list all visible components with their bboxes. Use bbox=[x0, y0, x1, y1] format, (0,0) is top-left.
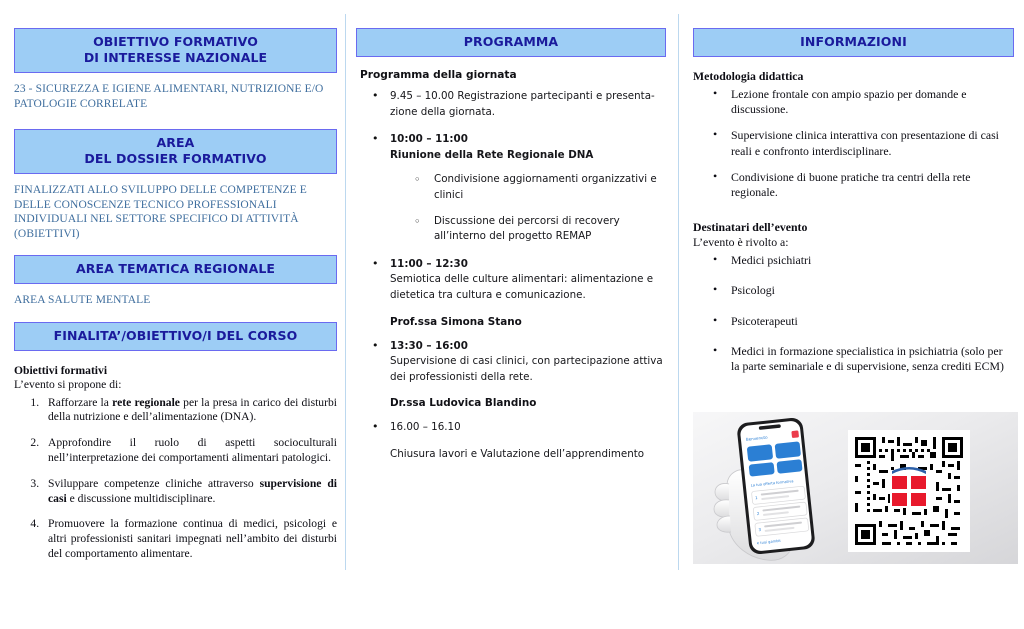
obiettivi-title: Obiettivi formativi bbox=[14, 364, 337, 379]
header-line: DI INTERESSE NAZIONALE bbox=[19, 50, 332, 66]
obiettivi-formativi-block: Obiettivi formativi L’evento si propone … bbox=[14, 364, 337, 562]
section-header-programma: PROGRAMMA bbox=[356, 28, 666, 57]
smartphone: Benvenuto La tua offerta formativa 1 2 bbox=[736, 417, 815, 555]
text-line: PATOLOGIE CORRELATE bbox=[14, 97, 337, 112]
list-item: 13:30 – 16:00 Supervisione di casi clini… bbox=[356, 339, 666, 386]
sub-list-item: Discussione dei percorsi di recovery all… bbox=[390, 214, 666, 245]
item-pre: Sviluppare competenze cliniche attravers… bbox=[48, 477, 260, 490]
item-line-2: zione della giornata. bbox=[390, 105, 666, 121]
obiettivi-lead: L’evento si propone di: bbox=[14, 378, 337, 393]
text-line: (OBIETTIVI) bbox=[14, 227, 337, 242]
header-line: AREA bbox=[19, 135, 332, 151]
list-item: 16.00 – 16.10 bbox=[356, 420, 666, 436]
obiettivo-formativo-value: 23 - SICUREZZA E IGIENE ALIMENTARI, NUTR… bbox=[14, 82, 337, 111]
list-item: Condivisione di buone pratiche tra centr… bbox=[693, 170, 1014, 200]
header-line: INFORMAZIONI bbox=[698, 34, 1009, 50]
list-item: Rafforzare la rete regionale per la pres… bbox=[42, 396, 337, 426]
section-header-finalita: FINALITA’/OBIETTIVO/I DEL CORSO bbox=[14, 322, 337, 351]
list-item: Promuovere la formazione continua di med… bbox=[42, 517, 337, 561]
text-line: 23 - SICUREZZA E IGIENE ALIMENTARI, NUTR… bbox=[14, 82, 337, 97]
section-header-area-dossier: AREA DEL DOSSIER FORMATIVO bbox=[14, 129, 337, 174]
qr-code bbox=[848, 430, 970, 552]
item-pre: Approfondire il ruolo di aspetti sociocu… bbox=[48, 436, 337, 464]
item-line-1: 9.45 – 10.00 Registrazione partecipanti … bbox=[390, 89, 666, 105]
list-item: Medici in formazione specialistica in ps… bbox=[693, 344, 1014, 374]
regione-logo bbox=[890, 467, 928, 508]
destinatari-list: Medici psichiatri Psicologi Psicoterapeu… bbox=[693, 253, 1014, 374]
section-header-informazioni: INFORMAZIONI bbox=[693, 28, 1014, 57]
item-line-2: Semiotica delle culture alimentari: alim… bbox=[390, 272, 666, 303]
item-line-1: 10:00 – 11:00 bbox=[390, 132, 666, 148]
item-line-2: Supervisione di casi clinici, con partec… bbox=[390, 354, 666, 385]
flyer-page: OBIETTIVO FORMATIVO DI INTERESSE NAZIONA… bbox=[0, 0, 1024, 629]
promo-illustration: Benvenuto La tua offerta formativa 1 2 bbox=[693, 412, 1018, 564]
item-post: e discussione multidisciplinare. bbox=[67, 492, 216, 505]
header-line: PROGRAMMA bbox=[361, 34, 661, 50]
promo-image-qr: Benvenuto La tua offerta formativa 1 2 bbox=[693, 412, 1018, 564]
list-item: 9.45 – 10.00 Registrazione partecipanti … bbox=[356, 89, 666, 120]
list-item: Approfondire il ruolo di aspetti sociocu… bbox=[42, 436, 337, 466]
destinatari-title: Destinatari dell’evento bbox=[693, 220, 1014, 235]
area-tematica-value: AREA SALUTE MENTALE bbox=[14, 293, 337, 308]
header-line: OBIETTIVO FORMATIVO bbox=[19, 34, 332, 50]
speaker-name: Dr.ssa Ludovica Blandino bbox=[390, 397, 666, 409]
list-item: Medici psichiatri bbox=[693, 253, 1014, 268]
list-item: Lezione frontale con ampio spazio per do… bbox=[693, 87, 1014, 117]
item-line-1: 11:00 – 12:30 bbox=[390, 257, 666, 273]
item-pre: Rafforzare la bbox=[48, 396, 112, 409]
item-line-1: 16.00 – 16.10 bbox=[390, 420, 666, 436]
section-header-area-tematica: AREA TEMATICA REGIONALE bbox=[14, 255, 337, 284]
text-line: FINALIZZATI ALLO SVILUPPO DELLE COMPETEN… bbox=[14, 183, 337, 198]
programma-list-continued: 13:30 – 16:00 Supervisione di casi clini… bbox=[356, 339, 666, 386]
closing-text: Chiusura lavori e Valutazione dell’appre… bbox=[390, 448, 666, 460]
sub-list: Condivisione aggiornamenti organizzativi… bbox=[390, 172, 666, 244]
programma-list-closing: 16.00 – 16.10 bbox=[356, 420, 666, 436]
list-item: 10:00 – 11:00 Riunione della Rete Region… bbox=[356, 132, 666, 245]
middle-column: PROGRAMMA Programma della giornata 9.45 … bbox=[346, 0, 678, 572]
text-line: DELLE CONOSCENZE TECNICO PROFESSIONALI bbox=[14, 198, 337, 213]
programma-list: 9.45 – 10.00 Registrazione partecipanti … bbox=[356, 89, 666, 304]
text-line: INDIVIDUALI NEL SETTORE SPECIFICO DI ATT… bbox=[14, 212, 337, 227]
item-bold: rete regionale bbox=[112, 396, 180, 409]
metodologia-title: Metodologia didattica bbox=[693, 69, 1014, 84]
area-dossier-value: FINALIZZATI ALLO SVILUPPO DELLE COMPETEN… bbox=[14, 183, 337, 241]
list-item: Psicologi bbox=[693, 283, 1014, 298]
obiettivi-list: Rafforzare la rete regionale per la pres… bbox=[14, 396, 337, 562]
item-pre: Promuovere la formazione continua di med… bbox=[48, 517, 337, 560]
programma-subtitle: Programma della giornata bbox=[360, 69, 666, 81]
list-item: 11:00 – 12:30 Semiotica delle culture al… bbox=[356, 257, 666, 304]
item-line-2: Riunione della Rete Regionale DNA bbox=[390, 148, 666, 164]
sub-list-item: Condivisione aggiornamenti organizzativi… bbox=[390, 172, 666, 203]
list-item: Sviluppare competenze cliniche attravers… bbox=[42, 477, 337, 507]
left-column: OBIETTIVO FORMATIVO DI INTERESSE NAZIONA… bbox=[0, 0, 345, 572]
header-line: DEL DOSSIER FORMATIVO bbox=[19, 151, 332, 167]
speaker-name: Prof.ssa Simona Stano bbox=[390, 316, 666, 328]
metodologia-list: Lezione frontale con ampio spazio per do… bbox=[693, 87, 1014, 200]
destinatari-lead: L’evento è rivolto a: bbox=[693, 235, 1014, 250]
text-line: AREA SALUTE MENTALE bbox=[14, 293, 337, 308]
header-line: FINALITA’/OBIETTIVO/I DEL CORSO bbox=[19, 328, 332, 344]
item-line-1: 13:30 – 16:00 bbox=[390, 339, 666, 355]
header-line: AREA TEMATICA REGIONALE bbox=[19, 261, 332, 277]
section-header-obiettivo-formativo: OBIETTIVO FORMATIVO DI INTERESSE NAZIONA… bbox=[14, 28, 337, 73]
list-item: Psicoterapeuti bbox=[693, 314, 1014, 329]
list-item: Supervisione clinica interattiva con pre… bbox=[693, 128, 1014, 158]
